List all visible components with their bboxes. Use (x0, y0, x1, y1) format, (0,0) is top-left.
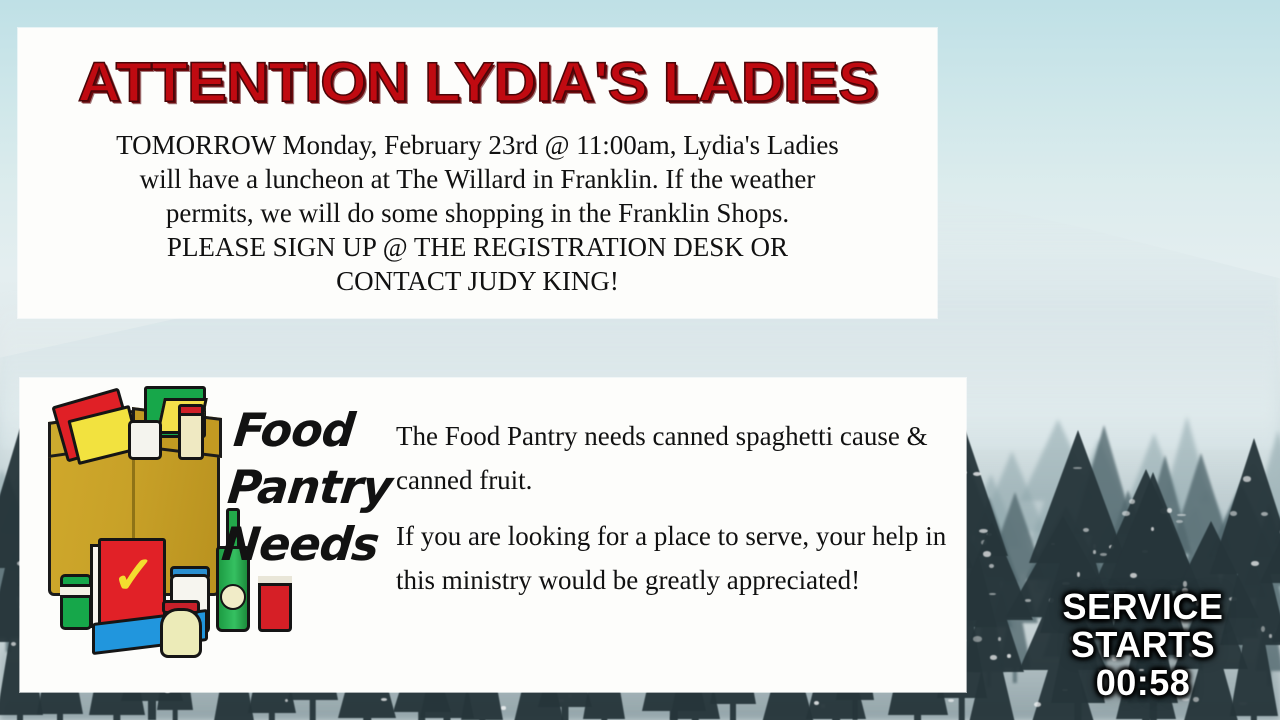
food-pantry-text: The Food Pantry needs canned spaghetti c… (388, 378, 966, 692)
food-pantry-logo: ✓ Food Pantry Needs (20, 378, 388, 692)
bottle-label-icon (220, 584, 246, 610)
green-can-icon (60, 574, 92, 630)
countdown-label-line-2: STARTS (1034, 626, 1252, 664)
countdown-label-line-1: SERVICE (1034, 588, 1252, 626)
food-pantry-card: ✓ Food Pantry Needs The Food Pantry ne (20, 378, 966, 692)
service-countdown: SERVICE STARTS 00:58 (1034, 588, 1252, 702)
announcement-headline: ATTENTION LYDIA'S LADIES (0, 54, 965, 110)
food-pantry-needs-wordmark: Food Pantry Needs (219, 402, 393, 573)
announcement-line-3: permits, we will do some shopping in the… (32, 196, 923, 230)
logo-line-pantry: Pantry (225, 459, 387, 516)
slide-stage: ATTENTION LYDIA'S LADIES TOMORROW Monday… (0, 0, 1280, 720)
announcement-line-4: PLEASE SIGN UP @ THE REGISTRATION DESK O… (32, 230, 923, 264)
countdown-timer-value: 00:58 (1034, 664, 1252, 702)
yellow-jar-icon (160, 608, 202, 658)
pantry-paragraph-2: If you are looking for a place to serve,… (396, 514, 948, 602)
logo-line-food: Food (231, 402, 393, 459)
check-mark-icon: ✓ (112, 556, 158, 602)
logo-line-needs: Needs (219, 516, 381, 573)
green-can-label-icon (60, 584, 92, 598)
announcement-card: ATTENTION LYDIA'S LADIES TOMORROW Monday… (18, 28, 937, 318)
announcement-line-1: TOMORROW Monday, February 23rd @ 11:00am… (32, 128, 923, 162)
pantry-paragraph-1: The Food Pantry needs canned spaghetti c… (396, 414, 948, 502)
jar-in-bag-lid-icon (178, 404, 204, 416)
announcement-body: TOMORROW Monday, February 23rd @ 11:00am… (18, 128, 937, 298)
announcement-line-5: CONTACT JUDY KING! (32, 264, 923, 298)
can-in-bag-icon (128, 420, 162, 460)
conifer-tree (1259, 473, 1280, 720)
announcement-line-2: will have a luncheon at The Willard in F… (32, 162, 923, 196)
red-can-label-icon (258, 576, 292, 586)
